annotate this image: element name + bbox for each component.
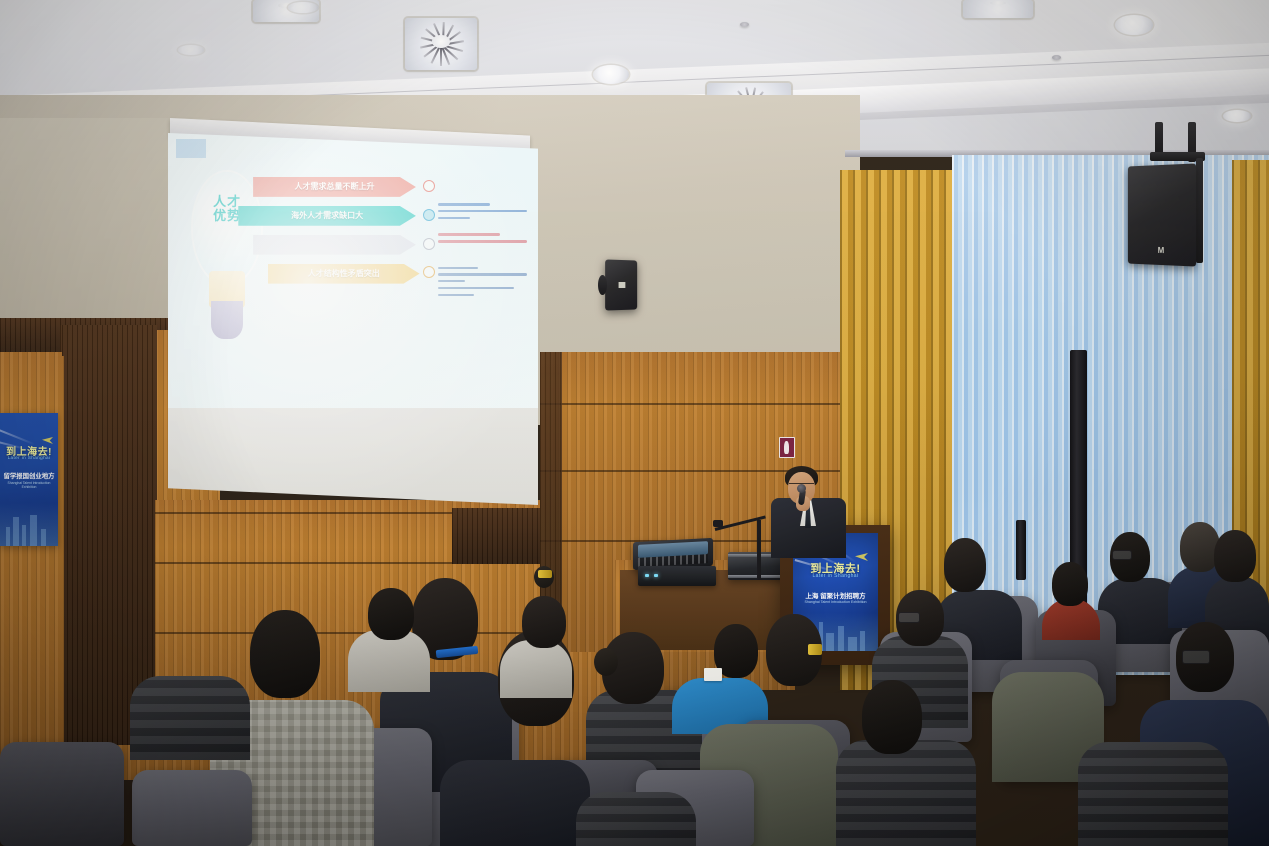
skyline-building bbox=[6, 527, 10, 546]
smoke-detector bbox=[740, 22, 749, 27]
microphone-stand-pole bbox=[757, 520, 761, 580]
conference-hall-photo: 人才 优势 人才需求总量不断上升 海外人才需求缺口大 人才结构性矛盾突出 bbox=[0, 0, 1269, 846]
slide-band-marker bbox=[423, 180, 435, 192]
slide-band: 海外人才需求缺口大 bbox=[238, 206, 416, 226]
slide-bullets-group bbox=[438, 233, 527, 247]
audience-member-torso bbox=[500, 640, 572, 698]
audience-member-head bbox=[1214, 530, 1256, 582]
slide-image-area: 人才 优势 人才需求总量不断上升 海外人才需求缺口大 人才结构性矛盾突出 bbox=[168, 133, 538, 408]
audience-member-head bbox=[862, 680, 922, 754]
wood-seam bbox=[540, 403, 840, 405]
slide-band-marker bbox=[423, 209, 435, 221]
seat bbox=[0, 742, 124, 846]
audience-member-head bbox=[1052, 562, 1088, 606]
audience-member-head bbox=[250, 610, 320, 698]
slide-band-marker bbox=[423, 266, 435, 278]
slide-bullet-line bbox=[438, 294, 474, 296]
hair-bun bbox=[594, 648, 618, 676]
skyline-building bbox=[838, 626, 844, 651]
recessed-downlight bbox=[1223, 110, 1251, 122]
slide-bullets-group bbox=[438, 267, 527, 301]
audience-member-torso bbox=[576, 792, 696, 846]
poster-title-en: Later in Shanghai bbox=[0, 455, 58, 460]
slide-band bbox=[253, 235, 416, 255]
skyline-building bbox=[22, 525, 26, 546]
audience-member-head bbox=[368, 588, 414, 640]
skyline-building bbox=[826, 633, 834, 651]
smoke-detector bbox=[1052, 55, 1061, 60]
speaker-brand-badge: M bbox=[1158, 246, 1165, 255]
audience-member-head bbox=[522, 596, 566, 648]
slide-band-marker bbox=[423, 238, 435, 250]
recessed-downlight bbox=[593, 65, 629, 84]
wall-poster: 到上海去! Later in Shanghai 留学报国创业地方 Shangha… bbox=[0, 413, 58, 546]
slide-bullet-line bbox=[438, 240, 527, 242]
skyline-building bbox=[30, 515, 37, 546]
slide-bullet-line bbox=[438, 203, 490, 205]
lightbulb-graphic: 人才 优势 bbox=[183, 172, 272, 343]
slide-bullets-group bbox=[438, 203, 527, 223]
slide-bullet-line bbox=[438, 233, 500, 235]
slide-band-label: 海外人才需求缺口大 bbox=[238, 210, 416, 221]
speaker-mount-bracket bbox=[1196, 158, 1203, 263]
slide-bullet-line bbox=[438, 267, 478, 269]
lightbulb-globe bbox=[193, 172, 260, 285]
recessed-downlight bbox=[1115, 15, 1153, 35]
hair-clip bbox=[538, 570, 552, 578]
power-led bbox=[645, 574, 649, 577]
speaker-brand-badge bbox=[618, 282, 625, 288]
lightbulb-base bbox=[211, 301, 243, 339]
slide-corner-accent bbox=[176, 139, 206, 158]
podium-banner-subtitle-en: Shanghai Talent Introduction Exhibition bbox=[793, 600, 878, 604]
slide-band: 人才结构性矛盾突出 bbox=[268, 264, 420, 284]
recessed-downlight bbox=[178, 45, 204, 55]
wall-sign bbox=[779, 437, 795, 458]
slide-bullet-line bbox=[438, 217, 470, 219]
slide-band-label: 人才需求总量不断上升 bbox=[253, 181, 416, 192]
audience-member-torso bbox=[440, 760, 590, 846]
ceiling-air-vent bbox=[963, 0, 1033, 18]
projection-screen: 人才 优势 人才需求总量不断上升 海外人才需求缺口大 人才结构性矛盾突出 bbox=[168, 133, 538, 505]
slide-blank-area bbox=[168, 408, 538, 505]
poster-subtitle-cn: 留学报国创业地方 bbox=[0, 471, 58, 480]
amplifier-rack-unit bbox=[638, 566, 716, 586]
audience-member-glasses bbox=[898, 612, 920, 623]
podium-banner-subtitle-cn: 上海 留聚计划招聘方 bbox=[793, 590, 878, 600]
audience-member-glasses bbox=[1182, 650, 1210, 664]
speaker-stand-pole bbox=[1016, 520, 1026, 580]
skyline-building bbox=[848, 637, 857, 651]
power-led bbox=[654, 574, 658, 577]
slide-bullet-line bbox=[438, 210, 527, 212]
main-loudspeaker: M bbox=[1128, 163, 1196, 266]
speaker-mount-bracket bbox=[1155, 122, 1163, 156]
name-badge bbox=[704, 668, 722, 681]
audience-member-head bbox=[944, 538, 986, 592]
wall-loudspeaker bbox=[605, 259, 637, 310]
microphone-head bbox=[797, 484, 806, 493]
audience-member-torso bbox=[1078, 742, 1228, 846]
seat bbox=[132, 770, 252, 846]
ceiling-air-vent bbox=[405, 18, 477, 70]
wood-panel-dark-inset bbox=[452, 508, 547, 564]
slide-bullet-line bbox=[438, 287, 514, 289]
skyline-building bbox=[41, 529, 46, 546]
recessed-downlight bbox=[288, 2, 318, 13]
slide-band: 人才需求总量不断上升 bbox=[253, 177, 416, 197]
slide-band-label: 人才结构性矛盾突出 bbox=[268, 268, 420, 279]
microphone-stand-clip bbox=[713, 520, 723, 527]
poster-skyline-graphic bbox=[0, 503, 58, 546]
speaker-mount-bracket bbox=[598, 275, 607, 295]
slide-bullet-line bbox=[438, 273, 527, 275]
hair-clip bbox=[808, 644, 822, 655]
slide-bullet-line bbox=[438, 280, 465, 282]
audience-member-torso bbox=[836, 740, 976, 846]
audience-member-torso bbox=[130, 676, 250, 760]
skyline-building bbox=[13, 517, 19, 546]
audience-member-glasses bbox=[1112, 550, 1132, 560]
podium-banner-title-en: Later in Shanghai bbox=[793, 573, 878, 579]
poster-subtitle-en: Shanghai Talent Introduction Exhibition bbox=[0, 481, 58, 489]
skyline-building bbox=[860, 631, 865, 651]
